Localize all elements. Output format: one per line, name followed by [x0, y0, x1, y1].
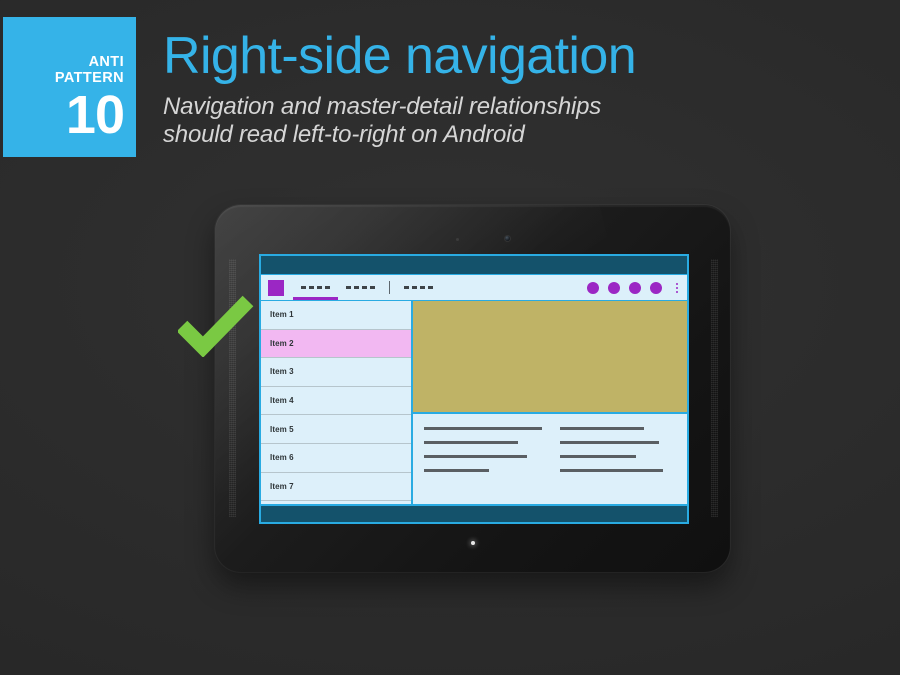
ambient-light-sensor-icon	[456, 238, 459, 241]
text-line	[424, 427, 542, 430]
action-icon-4[interactable]	[650, 282, 662, 294]
badge-line-2: PATTERN	[55, 71, 124, 87]
list-item[interactable]: Item 3	[261, 358, 411, 387]
action-icon-2[interactable]	[608, 282, 620, 294]
list-item[interactable]: Item 4	[261, 387, 411, 416]
tab-1-label	[301, 286, 330, 289]
app-logo-icon[interactable]	[268, 280, 284, 296]
list-item[interactable]: Item 1	[261, 301, 411, 330]
front-camera-icon	[505, 236, 510, 241]
badge-line-1: ANTI	[89, 55, 124, 71]
subtitle-line-1: Navigation and master-detail relationshi…	[163, 93, 601, 121]
detail-pane	[413, 301, 687, 504]
action-bar-actions	[587, 282, 687, 294]
text-line	[424, 455, 527, 458]
slide-canvas: ANTI PATTERN 10 Right-side navigation Na…	[0, 0, 900, 675]
tab-1-indicator	[293, 297, 338, 300]
badge-number: 10	[66, 89, 124, 141]
detail-text-column-left	[424, 427, 542, 494]
speaker-grille-right-icon	[711, 259, 718, 517]
list-item[interactable]: Item 6	[261, 444, 411, 473]
tab-2[interactable]	[338, 275, 383, 300]
list-item[interactable]: Item 5	[261, 415, 411, 444]
text-line	[560, 441, 660, 444]
anti-pattern-badge: ANTI PATTERN 10	[3, 17, 136, 157]
action-icon-3[interactable]	[629, 282, 641, 294]
overflow-menu-icon[interactable]	[674, 283, 680, 293]
action-bar-tabs	[293, 275, 441, 300]
system-navigation-bar	[261, 504, 687, 524]
action-bar	[261, 274, 687, 301]
action-icon-1[interactable]	[587, 282, 599, 294]
tab-1[interactable]	[293, 275, 338, 300]
header: ANTI PATTERN 10 Right-side navigation Na…	[0, 0, 900, 175]
list-item[interactable]: Item 7	[261, 473, 411, 502]
page-title: Right-side navigation	[163, 28, 636, 84]
detail-hero-image	[413, 301, 687, 414]
list-item[interactable]: Item 2	[261, 330, 411, 359]
device-screen: Item 1 Item 2 Item 3 Item 4 Item 5 Item …	[259, 254, 689, 524]
tab-3-label	[404, 286, 433, 289]
navigation-list: Item 1 Item 2 Item 3 Item 4 Item 5 Item …	[261, 301, 413, 504]
text-line	[560, 427, 645, 430]
speaker-grille-left-icon	[229, 259, 236, 517]
page-subtitle: Navigation and master-detail relationshi…	[163, 93, 601, 149]
detail-text-block	[413, 414, 687, 504]
text-line	[560, 455, 636, 458]
text-line	[424, 441, 518, 444]
notification-led-icon	[471, 541, 475, 545]
tablet-device: Item 1 Item 2 Item 3 Item 4 Item 5 Item …	[215, 205, 730, 572]
text-line	[560, 469, 663, 472]
app-body: Item 1 Item 2 Item 3 Item 4 Item 5 Item …	[261, 301, 687, 504]
text-line	[424, 469, 489, 472]
detail-text-column-right	[560, 427, 678, 494]
status-bar	[261, 256, 687, 274]
tab-separator	[389, 281, 390, 294]
tab-2-label	[346, 286, 375, 289]
subtitle-line-2: should read left-to-right on Android	[163, 121, 601, 149]
tab-3[interactable]	[396, 275, 441, 300]
